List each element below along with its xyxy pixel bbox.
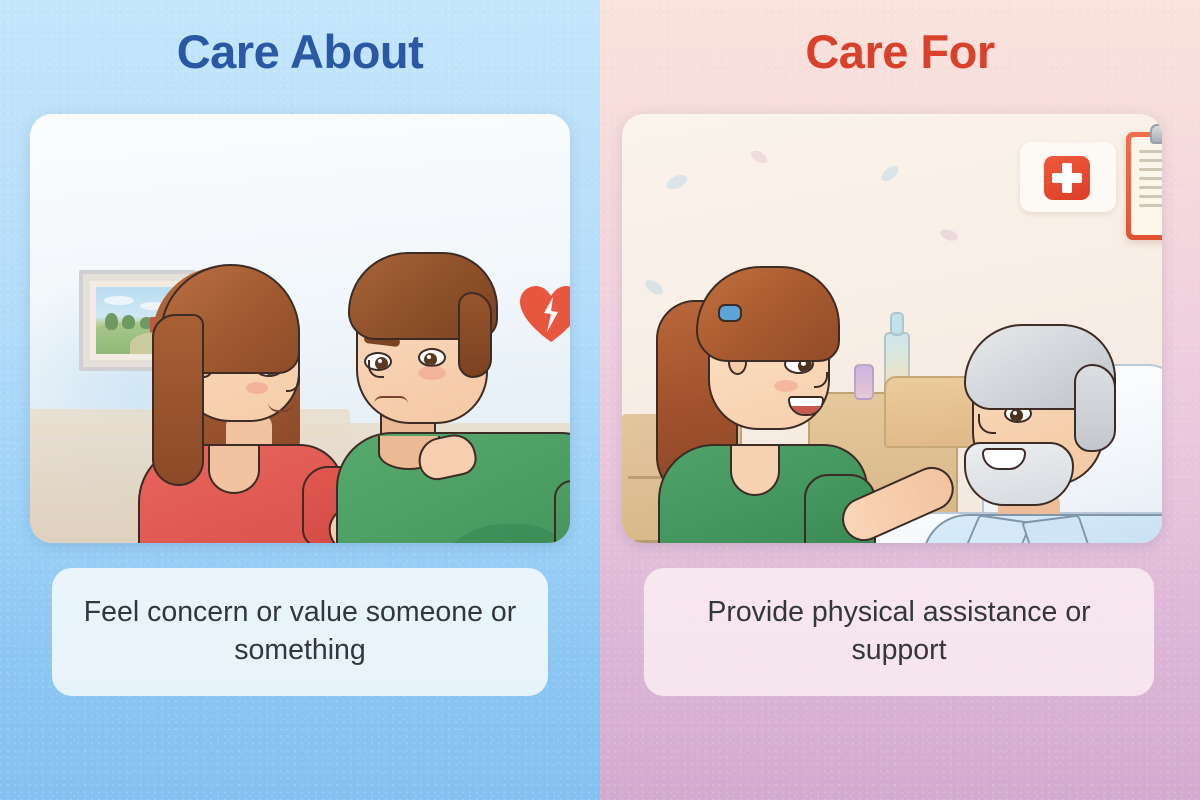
scene-living-room — [30, 114, 570, 543]
broken-heart-icon — [520, 286, 570, 344]
hair-tie-icon — [718, 304, 742, 322]
paper-line — [1139, 177, 1162, 180]
wall-speck — [643, 277, 666, 297]
man-mouth — [374, 396, 408, 404]
panel-care-about: Care About — [0, 0, 600, 800]
man-pupil — [424, 353, 437, 366]
wall-speck — [749, 148, 770, 166]
tree-shape — [105, 313, 118, 330]
bottle-cap — [890, 312, 904, 336]
caption-text: Provide physical assistance or support — [662, 594, 1136, 670]
medicine-bottle — [854, 364, 874, 400]
man-cheek-blush — [418, 366, 446, 380]
shirt-shading — [430, 524, 570, 543]
paper-line — [1139, 186, 1162, 189]
patient-pupil — [1010, 409, 1023, 422]
woman-hair-side — [152, 314, 204, 486]
caption-text: Feel concern or value someone or somethi… — [70, 594, 530, 670]
man-eye — [418, 348, 446, 367]
scene-hospital-room — [622, 114, 1162, 543]
illustration-card-care-for — [622, 114, 1162, 543]
panel-title-care-about: Care About — [0, 24, 600, 79]
wall-speck — [664, 172, 689, 192]
paper-line — [1139, 204, 1162, 207]
woman-cheek-blush — [246, 382, 268, 394]
paper-line — [1139, 159, 1162, 162]
patient-hair-side — [1074, 364, 1116, 452]
woman-collar — [208, 446, 260, 494]
wall-speck — [939, 227, 959, 243]
wall-speck — [879, 163, 901, 184]
clipboard-clip — [1150, 124, 1162, 144]
cross-horizontal-bar — [1052, 173, 1082, 183]
nurse-cheek-blush — [774, 380, 798, 392]
paper-line — [1139, 150, 1162, 153]
cloud-shape — [104, 296, 134, 305]
first-aid-kit-panel — [1020, 142, 1116, 212]
paper-line — [1139, 168, 1162, 171]
clipboard-icon — [1126, 132, 1162, 240]
nurse-collar — [730, 446, 780, 496]
caption-care-about: Feel concern or value someone or somethi… — [52, 568, 548, 696]
man-hair-side — [458, 292, 492, 378]
tree-shape — [122, 315, 135, 329]
paper-line — [1139, 195, 1162, 198]
shirt-collar-right — [1021, 515, 1095, 543]
panel-title-care-for: Care For — [600, 24, 1200, 79]
clipboard-paper — [1131, 137, 1162, 235]
man-sleeve — [554, 480, 570, 543]
nurse-mouth — [788, 396, 824, 416]
patient-blue-shirt — [922, 514, 1162, 543]
first-aid-cross-icon — [1044, 156, 1090, 200]
comparison-infographic: Care About — [0, 0, 1200, 800]
caption-care-for: Provide physical assistance or support — [644, 568, 1154, 696]
illustration-card-care-about — [30, 114, 570, 543]
panel-care-for: Care For — [600, 0, 1200, 800]
shirt-collar-left — [960, 514, 1033, 543]
